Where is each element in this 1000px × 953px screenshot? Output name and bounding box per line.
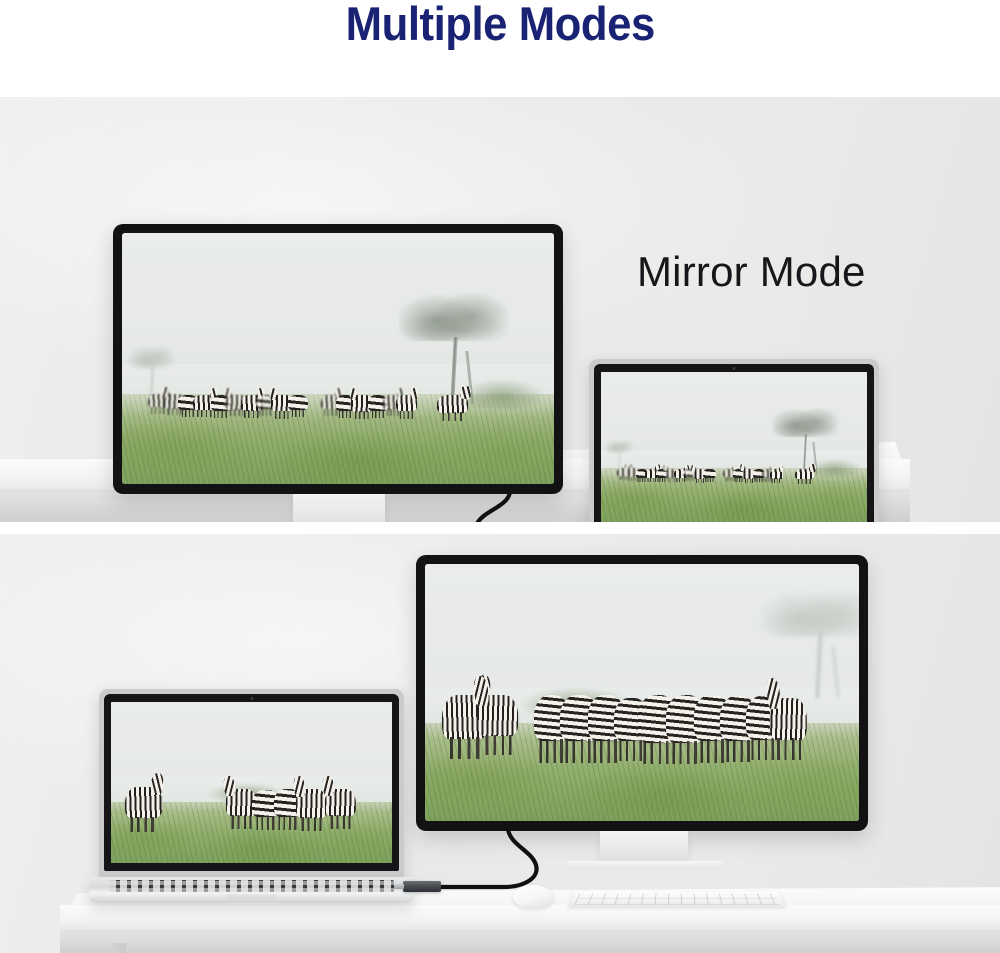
zebra (396, 395, 417, 411)
desk-under-shadow (60, 943, 1000, 953)
laptop-screen-mirror (601, 372, 867, 522)
desktop-keyboard[interactable] (568, 891, 786, 907)
distant-tree-icon (126, 343, 178, 398)
tree-canopy (760, 585, 859, 637)
tree-trunk (816, 632, 824, 698)
background-bush (459, 379, 545, 409)
monitor-screen-extend (425, 564, 859, 821)
laptop-lid (589, 359, 879, 522)
zebra (703, 469, 715, 478)
tree-trunk (803, 434, 807, 474)
mode-label-mirror: Mirror Mode (637, 248, 866, 296)
laptop-screen-extend (111, 702, 392, 863)
laptop-mirror (589, 359, 879, 522)
desk-leg (112, 943, 126, 953)
zebra-foreground (795, 469, 814, 480)
laptop-lid (99, 689, 404, 877)
zebra (288, 395, 308, 410)
desk-apron (60, 929, 1000, 943)
display-cable-mirror (440, 492, 610, 522)
zebra (770, 698, 807, 740)
tree-trunk (450, 337, 457, 404)
wallpaper-savanna-left-crop (111, 702, 392, 863)
webcam-icon (733, 367, 736, 370)
laptop-lid-inner (594, 364, 874, 522)
display-cable-extend (400, 829, 580, 909)
background-bush (808, 459, 861, 477)
zebra-foreground (437, 395, 468, 413)
tree-trunk-secondary (832, 646, 840, 698)
webcam-icon (250, 697, 253, 700)
monitor-stand-neck (600, 831, 688, 863)
laptop-base (89, 877, 414, 903)
wallpaper-savanna-full (122, 233, 554, 484)
panel-divider (0, 522, 1000, 534)
zebra-foreground (125, 787, 162, 818)
zebra (296, 789, 327, 818)
title-bar: Multiple Modes (0, 0, 1000, 92)
laptop-keyboard (109, 880, 395, 892)
zebra (770, 469, 783, 479)
laptop-extend (99, 689, 404, 904)
tree-canopy (399, 288, 510, 341)
page-title: Multiple Modes (345, 0, 654, 51)
laptop-trackpad (226, 894, 278, 900)
monitor-stand-foot (566, 861, 724, 869)
wallpaper-savanna-full-mirror (601, 372, 867, 522)
panel-mirror-mode: Mirror Mode (0, 97, 1000, 522)
wallpaper-savanna-right-crop (425, 564, 859, 821)
usb-c-connector-tip (394, 884, 404, 890)
tree-canopy (772, 405, 841, 437)
monitor-stand-neck (293, 494, 385, 522)
zebra (325, 789, 356, 816)
zebra-foreground (477, 695, 518, 736)
product-feature-image: Multiple Modes Mirror Mode (0, 0, 1000, 953)
monitor-screen-mirror (122, 233, 554, 484)
external-monitor-mirror (113, 224, 563, 494)
distant-tree-canopy (605, 438, 634, 453)
distant-tree-canopy (128, 343, 176, 368)
external-monitor-extend (416, 555, 868, 831)
panel-extend-mode: Extend Mode (0, 534, 1000, 953)
usb-c-adapter-extend (403, 881, 441, 892)
laptop-lid-inner (104, 694, 399, 871)
